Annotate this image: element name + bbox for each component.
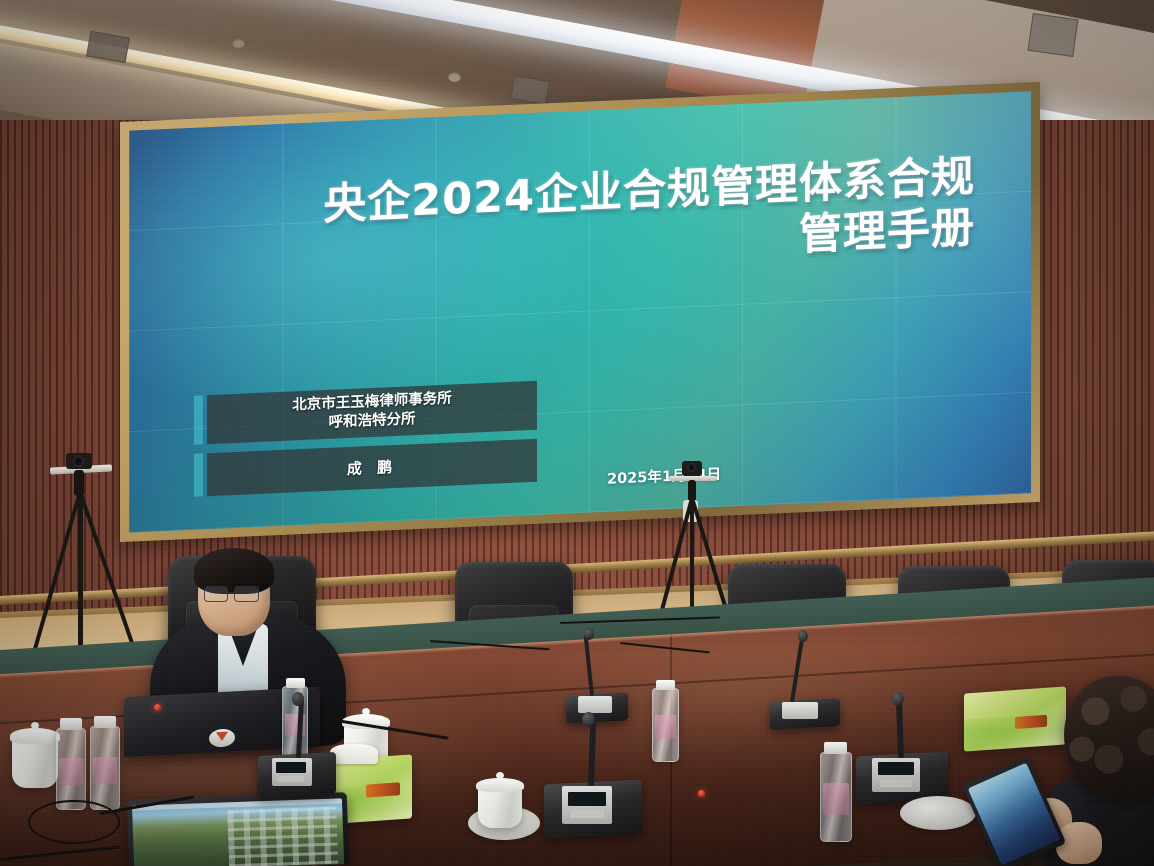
teacup-knob (362, 708, 370, 715)
microphone-display (568, 792, 606, 806)
conference-room-photo: 央企2024企业合规管理体系合规 管理手册 北京市王玉梅律师事务所 呼和浩特分所… (0, 0, 1154, 866)
glasses-bridge (228, 592, 235, 594)
floor-cable (28, 800, 120, 844)
slide-organization: 北京市王玉梅律师事务所 呼和浩特分所 (207, 381, 537, 445)
water-bottle[interactable] (90, 726, 120, 810)
teacup-knob (496, 772, 504, 779)
teacup-lid (476, 778, 524, 792)
camera-lens-icon (73, 456, 84, 467)
microphone-capsule (798, 630, 808, 642)
presentation-slide: 央企2024企业合规管理体系合规 管理手册 北京市王玉梅律师事务所 呼和浩特分所… (129, 91, 1031, 532)
tissue-sheet (330, 744, 378, 764)
glasses-icon (204, 586, 228, 602)
microphone-button[interactable] (278, 776, 304, 782)
microphone-panel (782, 702, 818, 719)
bottle-label (823, 783, 848, 815)
microphone-capsule (292, 692, 304, 706)
laptop-desktop-icons[interactable] (227, 806, 338, 866)
water-bottle[interactable] (652, 688, 679, 762)
glasses-icon (234, 586, 259, 602)
microphone-panel (578, 696, 612, 713)
led-video-wall[interactable]: 央企2024企业合规管理体系合规 管理手册 北京市王玉梅律师事务所 呼和浩特分所… (129, 91, 1031, 532)
teacup-lid (10, 728, 60, 744)
microphone-button[interactable] (570, 810, 604, 818)
ceiling-vent (86, 31, 130, 64)
bottle-cap (94, 716, 116, 728)
saucer[interactable] (900, 796, 976, 830)
bottle-label (93, 757, 117, 785)
camera-lens-icon (687, 463, 696, 472)
water-bottle[interactable] (56, 728, 86, 810)
status-led-icon (154, 704, 161, 711)
microphone-capsule (584, 628, 594, 640)
video-wall-frame: 央企2024企业合规管理体系合规 管理手册 北京市王玉梅律师事务所 呼和浩特分所… (120, 82, 1040, 542)
bottle-label (59, 758, 83, 785)
slide-credit-block: 北京市王玉梅律师事务所 呼和浩特分所 成 鹏 (207, 381, 537, 497)
microphone-led-icon (698, 790, 705, 797)
tissue-box-logo-icon (1015, 714, 1047, 728)
ceiling-vent (1028, 13, 1079, 57)
laptop-logo-glyph (216, 731, 228, 741)
ceiling-downlight (232, 38, 245, 48)
ceiling-downlight (448, 72, 461, 82)
microphone-button[interactable] (880, 780, 912, 787)
microphone-display (276, 762, 306, 773)
bottle-cap (60, 718, 82, 730)
tissue-box-logo-icon (366, 782, 400, 797)
microphone-capsule (892, 692, 904, 706)
water-bottle[interactable] (820, 752, 852, 842)
ceiling-vent (510, 75, 550, 105)
slide-presenter-name: 成 鹏 (207, 439, 537, 496)
microphone-display (878, 762, 914, 775)
tissue-box[interactable] (964, 686, 1066, 751)
slide-title: 央企2024企业合规管理体系合规 管理手册 (163, 151, 997, 289)
bottle-cap (656, 680, 675, 690)
bottle-cap (824, 742, 847, 754)
laptop-screen[interactable] (132, 798, 344, 866)
bottle-label (655, 715, 676, 739)
microphone-capsule (582, 712, 595, 727)
teacup-knob (31, 722, 39, 729)
bottle-cap (286, 678, 305, 688)
